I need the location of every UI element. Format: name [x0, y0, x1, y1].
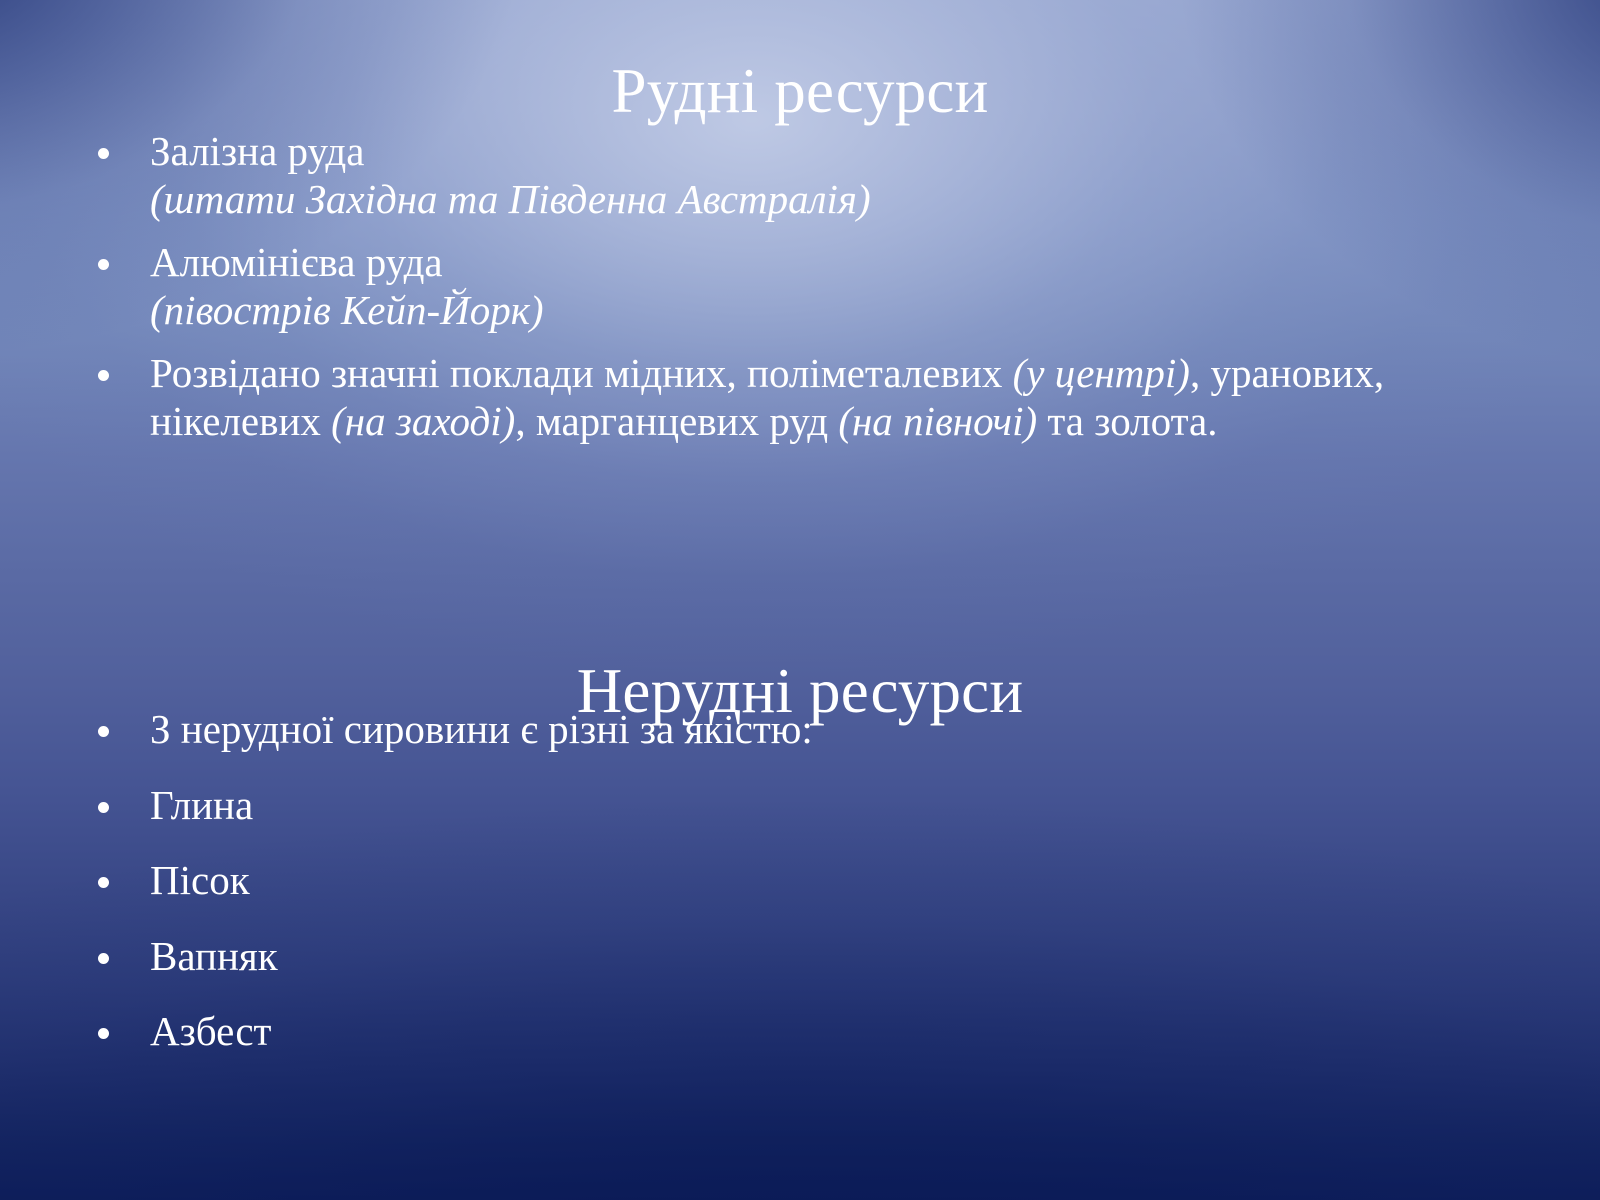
emphasis-text: (на півночі): [838, 398, 1037, 444]
list-item: Вапняк: [88, 933, 1488, 981]
list-item-text: З нерудної сировини є різні за якістю:: [150, 706, 1488, 754]
list-item: Пісок: [88, 857, 1488, 905]
list-item: Азбест: [88, 1008, 1488, 1056]
bullet-point-icon: [98, 726, 109, 737]
list-item-text: Алюмінієва руда(півострів Кейп-Йорк): [150, 239, 1488, 334]
list-item-line: Пісок: [150, 857, 1488, 905]
plain-text: Розвідано значні поклади мідних, полімет…: [150, 350, 1013, 396]
presentation-slide: Рудні ресурси Залізна руда(штати Західна…: [0, 0, 1600, 1200]
list-item-line: Залізна руда: [150, 128, 1488, 176]
bullet-point-icon: [98, 148, 109, 159]
bullet-point-icon: [98, 953, 109, 964]
list-item: Розвідано значні поклади мідних, полімет…: [88, 350, 1488, 445]
list-item-line: З нерудної сировини є різні за якістю:: [150, 706, 1488, 754]
emphasis-text: (у центрі): [1013, 350, 1190, 396]
list-item-text: Пісок: [150, 857, 1488, 905]
slide-content: Рудні ресурси Залізна руда(штати Західна…: [0, 0, 1600, 1200]
plain-text: , марганцевих руд: [515, 398, 838, 444]
list-item-line: Вапняк: [150, 933, 1488, 981]
plain-text: Азбест: [150, 1008, 271, 1054]
list-item-line: (штати Західна та Південна Австралія): [150, 176, 1488, 224]
plain-text: Глина: [150, 782, 253, 828]
list-item: Залізна руда(штати Західна та Південна А…: [88, 128, 1488, 223]
emphasis-text: (штати Західна та Південна Австралія): [150, 176, 871, 222]
emphasis-text: (на заході): [331, 398, 515, 444]
bullet-list-ore-resources: Залізна руда(штати Західна та Південна А…: [88, 128, 1488, 461]
bullet-list-nonore-resources: З нерудної сировини є різні за якістю:Гл…: [88, 706, 1488, 1084]
list-item-line: (півострів Кейп-Йорк): [150, 287, 1488, 335]
plain-text: Пісок: [150, 857, 250, 903]
bullet-point-icon: [98, 877, 109, 888]
emphasis-text: (півострів Кейп-Йорк): [150, 287, 544, 333]
plain-text: Алюмінієва руда: [150, 239, 443, 285]
plain-text: та золота.: [1037, 398, 1217, 444]
list-item-text: Вапняк: [150, 933, 1488, 981]
bullet-point-icon: [98, 370, 109, 381]
list-item-text: Глина: [150, 782, 1488, 830]
list-item: Алюмінієва руда(півострів Кейп-Йорк): [88, 239, 1488, 334]
plain-text: З нерудної сировини є різні за якістю:: [150, 706, 813, 752]
list-item-text: Розвідано значні поклади мідних, полімет…: [150, 350, 1488, 445]
bullet-point-icon: [98, 1028, 109, 1039]
list-item-text: Залізна руда(штати Західна та Південна А…: [150, 128, 1488, 223]
list-item-text: Азбест: [150, 1008, 1488, 1056]
plain-text: Вапняк: [150, 933, 278, 979]
list-item: З нерудної сировини є різні за якістю:: [88, 706, 1488, 754]
heading-ore-resources: Рудні ресурси: [0, 58, 1600, 124]
list-item-line: Азбест: [150, 1008, 1488, 1056]
list-item-line: Розвідано значні поклади мідних, полімет…: [150, 350, 1488, 445]
list-item: Глина: [88, 782, 1488, 830]
list-item-line: Алюмінієва руда: [150, 239, 1488, 287]
bullet-point-icon: [98, 259, 109, 270]
plain-text: Залізна руда: [150, 128, 364, 174]
list-item-line: Глина: [150, 782, 1488, 830]
bullet-point-icon: [98, 802, 109, 813]
